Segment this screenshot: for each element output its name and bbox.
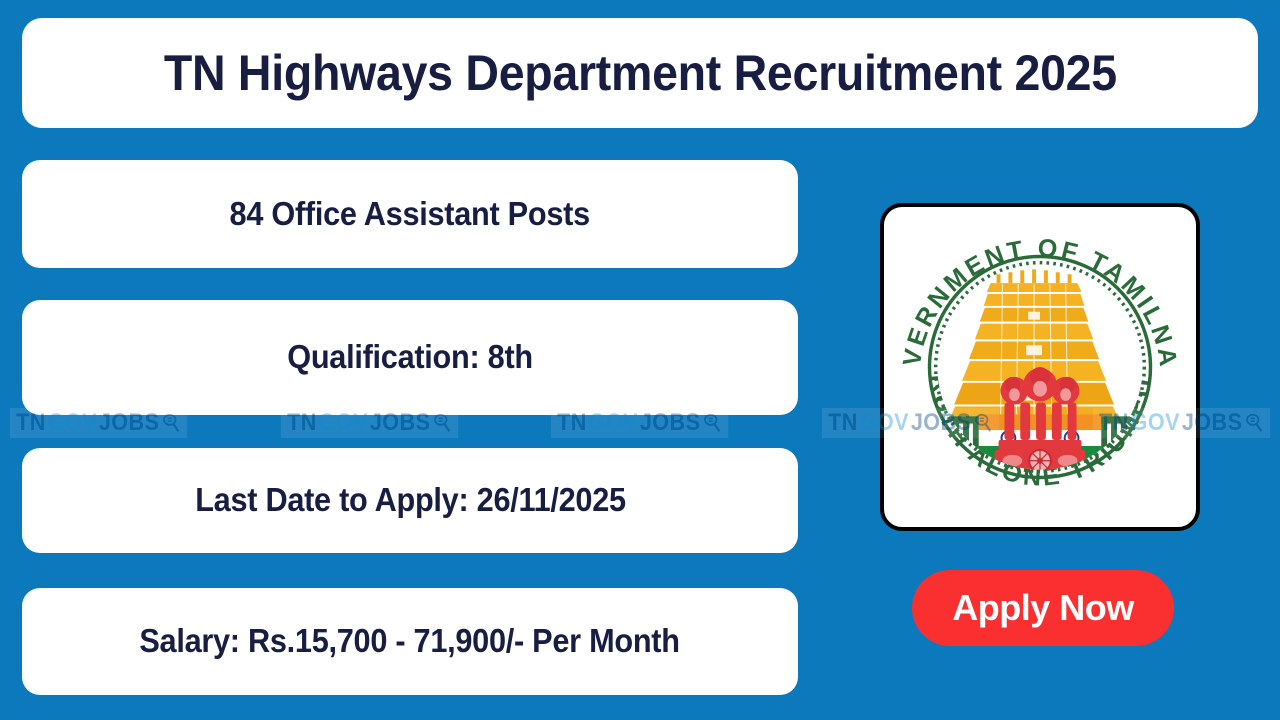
magnifier-icon (432, 412, 452, 434)
info-card-last-date: Last Date to Apply: 26/11/2025 (22, 448, 798, 553)
magnifier-icon (161, 412, 181, 434)
apply-now-button[interactable]: Apply Now (912, 570, 1174, 646)
info-card-salary-label: Salary: Rs.15,700 - 71,900/- Per Month (140, 623, 680, 659)
magnifier-icon (1244, 412, 1264, 434)
info-card-posts: 84 Office Assistant Posts (22, 160, 798, 268)
watermark-part-tn: TN (828, 411, 858, 435)
tamil-nadu-government-emblem-icon: GOVERNMENT OF TAMILNADU TRUTH ALONE TRIU… (892, 217, 1188, 517)
page-title: TN Highways Department Recruitment 2025 (164, 46, 1117, 101)
info-card-last-date-label: Last Date to Apply: 26/11/2025 (195, 482, 626, 518)
magnifier-icon (703, 412, 723, 434)
info-card-qualification-label: Qualification: 8th (287, 339, 533, 375)
info-card-salary: Salary: Rs.15,700 - 71,900/- Per Month (22, 588, 798, 695)
info-card-posts-label: 84 Office Assistant Posts (230, 196, 590, 232)
tamil-nadu-emblem-card: GOVERNMENT OF TAMILNADU TRUTH ALONE TRIU… (880, 203, 1200, 531)
recruitment-poster: TN Highways Department Recruitment 2025 … (0, 0, 1280, 720)
info-card-qualification: Qualification: 8th (22, 300, 798, 415)
title-card: TN Highways Department Recruitment 2025 (22, 18, 1258, 128)
